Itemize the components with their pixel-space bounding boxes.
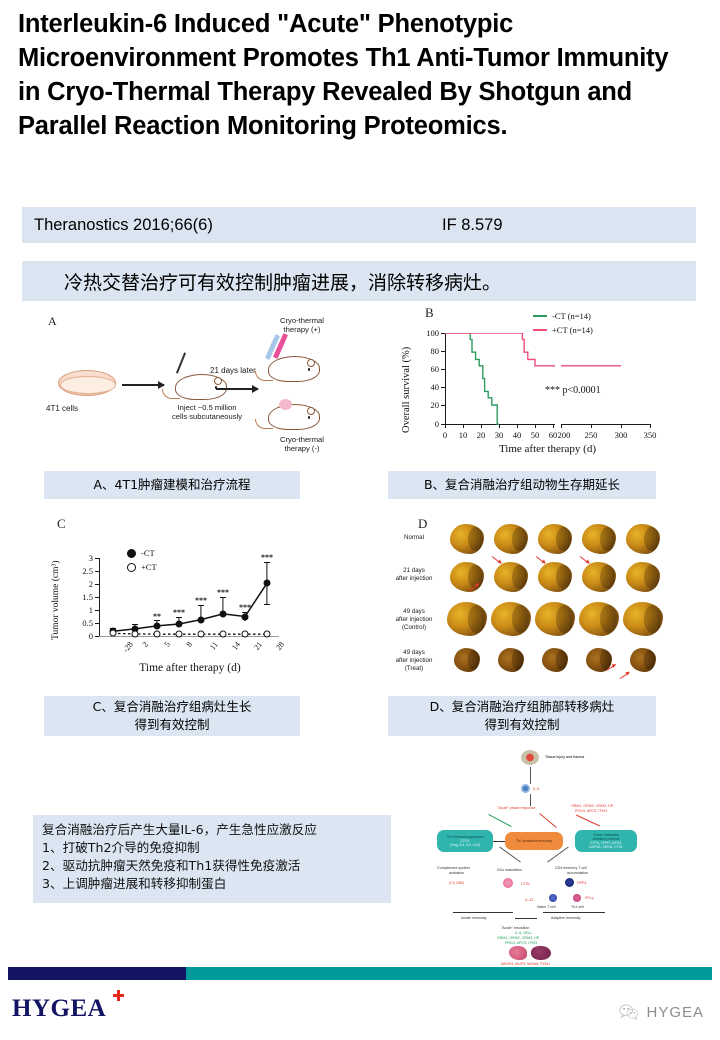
slide-root: Interleukin-6 Induced "Acute" Phenotypic… [0, 0, 720, 1040]
pathway-complement-1: Complement system [437, 866, 470, 871]
metastasis-arrow [620, 672, 630, 679]
panel-b-pvalue: *** p<0.0001 [545, 385, 601, 396]
caption-panel-d-line1: D、复合消融治疗组肺部转移病灶 [430, 698, 615, 716]
footer-bar-navy [8, 967, 186, 980]
panel-b-ytick-60: 60 [417, 364, 439, 374]
panel-b-letter: B [425, 305, 434, 321]
pathway-resolution-genes-3: PRG4, APCS, ITIH3 [505, 941, 537, 946]
pathway-acute-proteins-1: ORM1, ORM2, ORM3, HP, [571, 804, 614, 809]
mouse-cryothermal-positive [268, 356, 320, 382]
lung-specimen [535, 602, 575, 636]
tissue-injury-icon [521, 750, 539, 765]
panel-c-series-lines [99, 558, 284, 640]
panel-a-inject-line2: cells subcutaneously [142, 413, 272, 422]
caption-panel-a: A、4T1肿瘤建模和治疗流程 [44, 471, 300, 499]
panel-c-legend-item-0: -CT [127, 548, 155, 558]
panel-a-treat-pos-2: therapy (+) [256, 326, 348, 335]
il6-icon [521, 784, 530, 793]
pathway-dpp4: DPP4 [577, 881, 586, 886]
legend-marker-plus-ct [533, 329, 547, 331]
caption-panel-c-line2: 得到有效控制 [134, 716, 209, 734]
mouse-tail [255, 371, 273, 381]
panel-c-sig-3: *** [173, 608, 185, 617]
syringe-icon [176, 352, 186, 373]
panel-b-xtick-300: 300 [612, 430, 630, 440]
pathway-tissue-injury: Tissue injury and trauma [545, 755, 584, 760]
mouse-injected [175, 374, 227, 400]
panel-c-ytick-0.0: 0 [71, 631, 93, 641]
panel-a-cells-label: 4T1 cells [46, 404, 78, 413]
lung-specimen [542, 648, 568, 672]
panel-b-ytick-20: 20 [417, 400, 439, 410]
pathway-cd4-2: accumulation [567, 871, 588, 876]
panel-c-xtick-0: -28 [121, 640, 135, 654]
panel-c-ylabel: Tumor volume (cm³) [51, 560, 61, 640]
panel-c-letter: C [57, 516, 66, 532]
panel-c-sig-7: *** [261, 553, 273, 562]
summary-lead: 复合消融治疗后产生大量IL-6，产生急性应激反应 [42, 821, 382, 839]
mouse-ear [214, 377, 222, 385]
panel-b-xtick-20: 20 [473, 430, 489, 440]
lung-specimen [623, 602, 663, 636]
pathway-acute-proteins-2: PRG4, APCS, ITIH3 [575, 809, 607, 814]
panel-c-sig-2: ** [153, 612, 161, 621]
lung-specimen [538, 562, 572, 592]
journal-impact-factor: IF 8.579 [442, 216, 503, 235]
journal-bar: Theranostics 2016;66(6) IF 8.579 [22, 207, 696, 243]
panel-b-xtick-250: 250 [582, 430, 600, 440]
panel-a-days-label: 21 days later [210, 366, 256, 375]
summary-point-0: 1、打破Th2介导的免疫抑制 [42, 839, 382, 857]
pathway-dcs: DCs maturation [497, 868, 522, 873]
lung-specimen [447, 602, 487, 636]
panel-c-xtick-7: 28 [274, 640, 286, 652]
arrow-to-treatment [216, 388, 258, 390]
lung-specimen [579, 602, 619, 636]
panel-c-xtick-4: 11 [208, 640, 220, 652]
panel-c-ytick-1.0: 1 [71, 605, 93, 615]
pathway-ifng: IFN-γ [585, 896, 594, 901]
lung-specimen [494, 562, 528, 592]
lung-specimen [626, 562, 660, 592]
pathway-th1cell-label: Th1 cell [571, 905, 584, 910]
panel-a-treat-neg-2: therapy (-) [256, 445, 348, 454]
pathway-th2-box: Th2 immunosuppression CCL9, (Treg, IL4, … [437, 830, 493, 852]
pathway-th2-genes2: (Treg, IL4, IL5, IL13) [450, 843, 481, 847]
caption-panel-c-line1: C、复合消融治疗组病灶生长 [93, 698, 252, 716]
lung-specimen [582, 524, 616, 554]
panel-c-xtick-5: 14 [230, 640, 242, 652]
lung-specimen [630, 648, 656, 672]
figure-panel-a: A 4T1 cells Inject ~0.5 million cells su… [30, 308, 360, 463]
panel-b-xtick-50: 50 [527, 430, 543, 440]
pathway-diagram: Tissue injury and trauma IL-6 "Acute" ph… [425, 748, 665, 958]
panel-b-xtick-350: 350 [641, 430, 659, 440]
metastasis-arrow [580, 556, 589, 564]
panel-d-letter: D [418, 516, 427, 532]
pathway-cd4-1: CD4+memory T cell [555, 866, 587, 871]
caption-panel-c: C、复合消融治疗组病灶生长 得到有效控制 [44, 696, 300, 736]
mouse-cryothermal-negative [268, 404, 320, 430]
pathway-metastatic-genes-2: NAPSA, SRGN, CTSL [589, 845, 623, 849]
caption-panel-d: D、复合消融治疗组肺部转移病灶 得到有效控制 [388, 696, 656, 736]
panel-c-sig-4: *** [195, 596, 207, 605]
panel-c-ytick-2.0: 2 [71, 579, 93, 589]
panel-b-xtick-40: 40 [509, 430, 525, 440]
lung-specimen [538, 524, 572, 554]
mouse-tail [255, 419, 273, 429]
tcell-icon [565, 878, 574, 887]
pathway-adaptive: Adaptive immunity [551, 916, 580, 921]
panel-c-sig-6: *** [239, 603, 251, 612]
figure-panel-c: C -CT +CT Tumor volume (cm³) 3 2.5 2 1.5… [35, 512, 345, 687]
panel-b-ytick-40: 40 [417, 382, 439, 392]
headline-banner: 冷热交替治疗可有效控制肿瘤进展，消除转移病灶。 [22, 261, 696, 301]
panel-c-ytick-0.5: 0.5 [71, 618, 93, 628]
pathway-th1-box: Th1 protective immunity [505, 832, 563, 850]
pathway-resolution-genes-2: ORM1, ORM2, ORM3, HP, [497, 936, 540, 941]
tumor-mass-icon [279, 399, 292, 410]
pathway-metastatic-box: Tumor metastatic inhibitory proteins CST… [575, 830, 637, 852]
th1-cell-icon [573, 894, 581, 902]
pathway-th1-title: Th1 protective immunity [516, 839, 552, 843]
panel-c-xtick-3: 8 [185, 640, 195, 649]
headline-text: 冷热交替治疗可有效控制肿瘤进展，消除转移病灶。 [64, 268, 501, 295]
pathway-ctsl: CTSL [521, 882, 530, 887]
arrow-dish-to-mouse [122, 384, 164, 386]
panel-c-xtick-1: 2 [141, 640, 151, 649]
caption-panel-d-line2: 得到有效控制 [484, 716, 559, 734]
lung-specimen [498, 648, 524, 672]
cell-dish-icon [58, 370, 116, 396]
pathway-organ-genes: MEAP4, MUP3, MGAM, PON1 [501, 962, 550, 967]
lung-specimen [491, 602, 531, 636]
panel-b-ytick-100: 100 [417, 328, 439, 338]
panel-c-xtick-6: 21 [252, 640, 264, 652]
mouse-eye [308, 416, 311, 419]
pathway-il6: IL-6 [533, 787, 539, 792]
panel-b-curves [445, 333, 655, 425]
panel-b-ytick-0: 0 [417, 419, 439, 429]
panel-c-ytick-1.5: 1.5 [71, 592, 93, 602]
naive-tcell-icon [549, 894, 557, 902]
pathway-complement-2: activation [449, 871, 464, 876]
lung-organ-icon [509, 946, 527, 960]
lung-specimen [494, 524, 528, 554]
summary-point-2: 3、上调肿瘤进展和转移抑制蛋白 [42, 875, 382, 893]
panel-b-ylabel: Overall survival (%) [401, 347, 412, 433]
summary-box: 复合消融治疗后产生大量IL-6，产生急性应激反应 1、打破Th2介导的免疫抑制 … [33, 815, 391, 903]
mouse-tail [162, 389, 180, 399]
lung-specimen [450, 524, 484, 554]
wechat-icon [619, 1004, 639, 1021]
lung-specimen [582, 562, 616, 592]
wechat-account-label: HYGEA [646, 1004, 704, 1021]
dendritic-cell-icon [503, 878, 513, 888]
lung-specimen [450, 562, 484, 592]
pathway-innate: Innate immunity [461, 916, 486, 921]
panel-c-ytick-2.5: 2.5 [71, 566, 93, 576]
panel-b-ytick-80: 80 [417, 346, 439, 356]
mouse-ear [307, 407, 315, 415]
page-title: Interleukin-6 Induced "Acute" Phenotypic… [18, 8, 696, 144]
panel-b-xtick-30: 30 [491, 430, 507, 440]
panel-d-row-2-label3: (Control) [386, 624, 442, 632]
panel-a-letter: A [48, 314, 57, 329]
footer-bar-teal [186, 967, 712, 980]
metastasis-arrow [492, 556, 501, 564]
pathway-naive-label: Naive T cell [537, 905, 556, 910]
panel-b-xlabel: Time after therapy (d) [445, 443, 650, 455]
hygea-logo: HYGEA [12, 995, 106, 1023]
caption-panel-b: B、复合消融治疗组动物生存期延长 [388, 471, 656, 499]
wechat-footer: HYGEA [619, 1004, 704, 1021]
figure-panel-d: D Normal 21 days after injection 49 days… [378, 512, 683, 687]
lung-specimen [626, 524, 660, 554]
legend-marker-minus-ct [127, 549, 136, 558]
panel-c-sig-5: *** [217, 588, 229, 597]
panel-d-row-1-label2: after injection [386, 575, 442, 583]
legend-marker-minus-ct [533, 315, 547, 317]
panel-c-ytick-3.0: 3 [71, 553, 93, 563]
panel-b-xtick-10: 10 [455, 430, 471, 440]
mouse-ear [307, 359, 315, 367]
pathway-resolution-genes-1: IL-6, SELL [515, 931, 532, 936]
panel-b-xtick-200: 200 [555, 430, 573, 440]
legend-label-minus-ct: -CT [141, 548, 155, 558]
metastasis-arrow [536, 556, 545, 564]
panel-c-xtick-2: 5 [163, 640, 173, 649]
panel-c-xlabel: Time after therapy (d) [95, 662, 285, 674]
pathway-il12: IL-12 [525, 898, 533, 903]
medical-cross-icon [113, 990, 124, 1001]
summary-point-1: 2、驱动抗肿瘤天然免疫和Th1获得性免疫激活 [42, 857, 382, 875]
panel-b-legend-item-0: -CT (n=14) [533, 311, 591, 321]
liver-organ-icon [531, 946, 551, 960]
pathway-acute-phase: "Acute" phase response [497, 806, 535, 811]
panel-d-row-0-label: Normal [386, 534, 442, 542]
lung-specimen [454, 648, 480, 672]
mouse-eye [308, 368, 311, 371]
figure-panel-b: B -CT (n=14) +CT (n=14) Overall survival… [395, 305, 680, 465]
legend-label-minus-ct: -CT (n=14) [552, 311, 591, 321]
pathway-resolution: "Acute" resolution [501, 926, 529, 931]
panel-d-row-3-label3: (Treat) [386, 665, 442, 673]
panel-b-xtick-0: 0 [437, 430, 453, 440]
journal-citation: Theranostics 2016;66(6) [34, 216, 213, 235]
pathway-complement-genes: (C2,C8B) [449, 881, 464, 886]
